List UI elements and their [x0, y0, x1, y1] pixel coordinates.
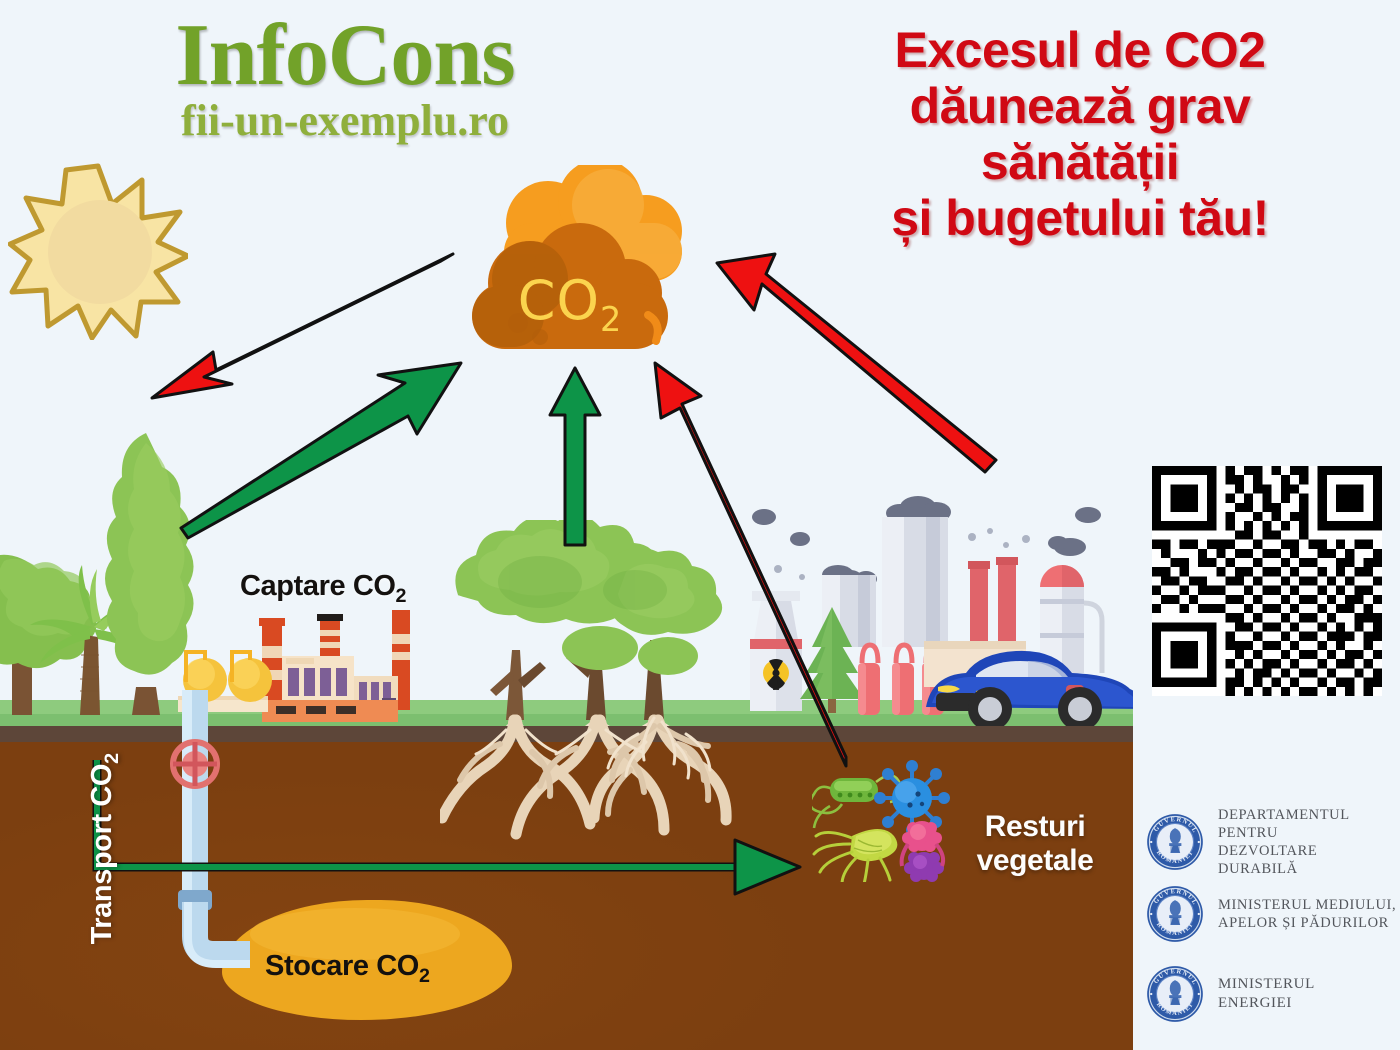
headline: Excesul de CO2 dăunează grav sănătății ș… — [790, 22, 1370, 246]
gov-logo-1-text: MINISTERUL MEDIULUI, APELOR ȘI PĂDURILOR — [1218, 896, 1396, 932]
qr-code[interactable] — [1152, 466, 1382, 696]
resturi-line-1: Resturi — [955, 810, 1115, 844]
headline-line-2: dăunează grav — [790, 78, 1370, 134]
infographic-canvas: CO2 Captare CO2 Transport CO2 Stocare CO… — [0, 0, 1400, 1050]
gov-logo-0: GUVERNUL ROMÂNIEI DEPARTAMENTUL PENTRU D… — [1146, 806, 1400, 879]
brand-name: InfoCons — [135, 14, 555, 98]
arrow-green-center — [550, 368, 600, 545]
arrow-green-left — [181, 363, 461, 538]
gov-logo-2: GUVERNUL ROMÂNIEI MINISTERUL ENERGIEI — [1146, 965, 1315, 1023]
guvernul-romaniei-seal-icon: GUVERNUL ROMÂNIEI — [1146, 965, 1204, 1023]
label-stocare-co2: Stocare CO2 — [265, 950, 430, 988]
label-captare-co2: Captare CO2 — [240, 570, 406, 608]
co2-cloud-label: CO2 — [490, 269, 650, 339]
headline-line-3: sănătății — [790, 134, 1370, 190]
headline-line-1: Excesul de CO2 — [790, 22, 1370, 78]
arrow-red-microbes — [655, 363, 846, 766]
arrow-red-industry — [717, 254, 996, 472]
gov-logo-2-text: MINISTERUL ENERGIEI — [1218, 975, 1315, 1013]
resturi-line-2: vegetale — [955, 844, 1115, 878]
guvernul-romaniei-seal-icon: GUVERNUL ROMÂNIEI — [1146, 885, 1204, 943]
qr-code-canvas[interactable] — [1152, 466, 1382, 696]
arrow-green-underground — [97, 760, 800, 894]
brand-tagline: fii-un-exemplu.ro — [135, 98, 555, 144]
label-transport-co2: Transport CO2 — [86, 729, 124, 969]
gov-logo-1: GUVERNUL ROMÂNIEI MINISTERUL MEDIULUI, A… — [1146, 885, 1396, 943]
brand-logo: InfoCons fii-un-exemplu.ro — [135, 14, 555, 144]
gov-logo-0-text: DEPARTAMENTUL PENTRU DEZVOLTARE DURABILĂ — [1218, 806, 1400, 879]
label-resturi-vegetale: Resturi vegetale — [955, 810, 1115, 877]
guvernul-romaniei-seal-icon: GUVERNUL ROMÂNIEI — [1146, 813, 1204, 871]
co2-cloud-icon: CO2 — [430, 165, 710, 370]
headline-line-4: și bugetului tău! — [790, 190, 1370, 246]
